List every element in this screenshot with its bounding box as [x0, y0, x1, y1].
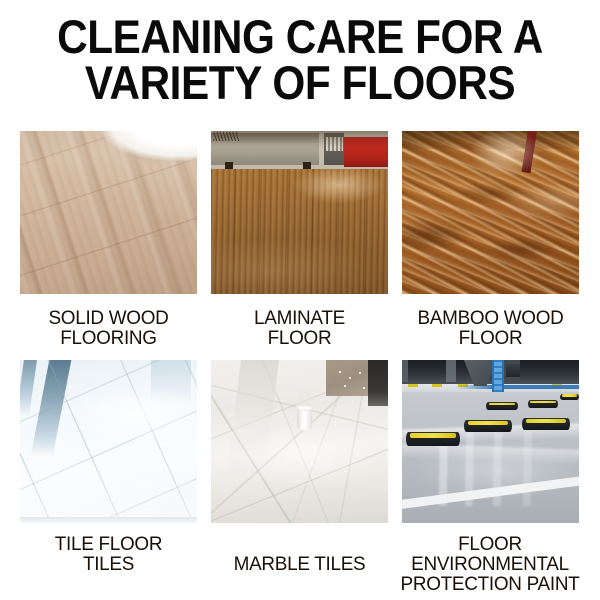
epoxy-gloss-highlight	[402, 360, 579, 523]
photo-floor-environmental-protection-paint	[402, 360, 579, 523]
caption-marble-tiles: MARBLE TILES	[214, 523, 386, 574]
caption-tile-floor-tiles: TILE FLOOR TILES	[23, 523, 195, 574]
grid-item-tile-floor-tiles[interactable]: TILE FLOOR TILES	[20, 360, 197, 594]
page-title: CLEANING CARE FOR A VARIETY OF FLOORS	[0, 14, 600, 106]
photo-bamboo-wood-floor	[402, 131, 579, 294]
photo-laminate-floor	[211, 131, 388, 294]
photo-tile-floor-tiles	[20, 360, 197, 523]
grid-item-marble-tiles[interactable]: MARBLE TILES	[211, 360, 388, 594]
tile-gloss-highlight	[20, 360, 197, 523]
caption-laminate-floor: LAMINATE FLOOR	[214, 294, 386, 360]
caption-floor-environmental-protection-paint: FLOOR ENVIRONMENTAL PROTECTION PAINT	[398, 523, 582, 594]
photo-solid-wood-flooring	[20, 131, 197, 294]
floor-type-grid: SOLID WOOD FLOORING LAMINATE FLOOR	[20, 131, 580, 594]
marble-gloss-highlight	[211, 360, 388, 523]
page-title-line-2: VARIETY OF FLOORS	[30, 60, 570, 106]
grid-item-laminate-floor[interactable]: LAMINATE FLOOR	[211, 131, 388, 360]
grid-item-bamboo-wood-floor[interactable]: BAMBOO WOOD FLOOR	[402, 131, 579, 360]
grid-item-solid-wood-flooring[interactable]: SOLID WOOD FLOORING	[20, 131, 197, 360]
bamboo-gloss-highlight	[402, 131, 579, 294]
page-title-line-1: CLEANING CARE FOR A	[30, 14, 570, 60]
caption-solid-wood-flooring: SOLID WOOD FLOORING	[23, 294, 195, 360]
caption-bamboo-wood-floor: BAMBOO WOOD FLOOR	[405, 294, 577, 360]
grid-item-floor-environmental-protection-paint[interactable]: FLOOR ENVIRONMENTAL PROTECTION PAINT	[402, 360, 579, 594]
infographic-page: CLEANING CARE FOR A VARIETY OF FLOORS SO…	[0, 0, 600, 600]
floor-sheen	[20, 131, 197, 294]
baseboard-shadow	[211, 131, 388, 294]
photo-marble-tiles	[211, 360, 388, 523]
